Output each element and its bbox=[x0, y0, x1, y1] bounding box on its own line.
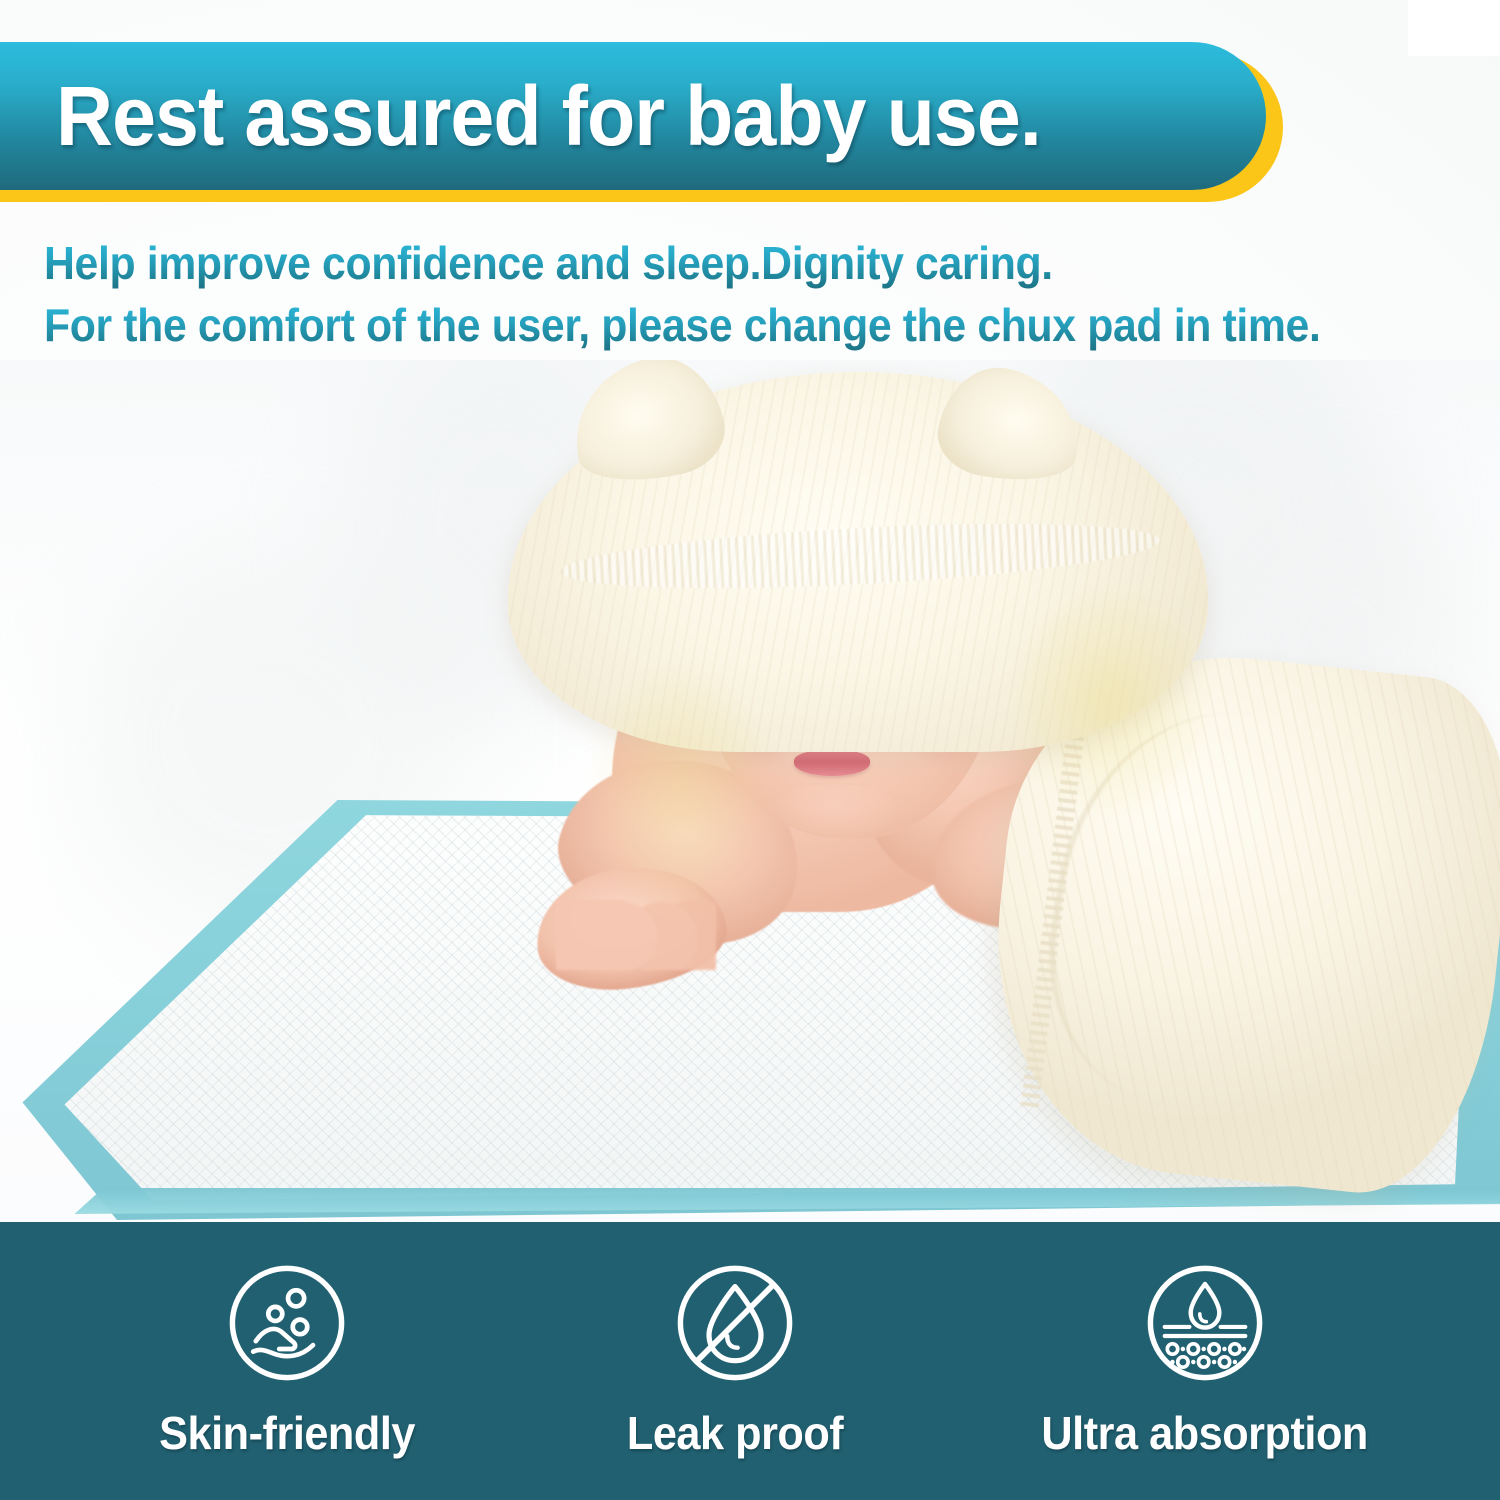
no-water-droplet-icon bbox=[670, 1258, 800, 1388]
background-white-notch bbox=[1408, 0, 1500, 56]
feature-bar: Skin-friendly Leak proof bbox=[0, 1222, 1500, 1500]
feature-item-leak-proof: Leak proof bbox=[585, 1258, 885, 1456]
feature-label-ultra-absorption: Ultra absorption bbox=[1042, 1410, 1368, 1456]
feature-label-leak-proof: Leak proof bbox=[627, 1410, 843, 1456]
subtitle-block: Help improve confidence and sleep.Dignit… bbox=[44, 232, 1474, 356]
banner-pill: Rest assured for baby use. bbox=[0, 42, 1266, 190]
feature-item-skin-friendly: Skin-friendly bbox=[137, 1258, 437, 1456]
feature-list: Skin-friendly Leak proof bbox=[0, 1222, 1500, 1500]
baby-mouth bbox=[794, 750, 870, 776]
page-title: Rest assured for baby use. bbox=[56, 74, 1041, 158]
droplet-absorbing-layers-icon bbox=[1140, 1258, 1270, 1388]
hand-with-bubbles-icon bbox=[222, 1258, 352, 1388]
subtitle-line-1: Help improve confidence and sleep.Dignit… bbox=[44, 232, 1374, 294]
feature-label-skin-friendly: Skin-friendly bbox=[159, 1410, 415, 1456]
product-photo bbox=[0, 360, 1500, 1222]
towel-warm-light-right bbox=[980, 550, 1240, 850]
towel-warm-light-left bbox=[560, 620, 800, 960]
subtitle-line-2: For the comfort of the user, please chan… bbox=[44, 294, 1374, 356]
feature-item-ultra-absorption: Ultra absorption bbox=[1055, 1258, 1355, 1456]
header-banner: Rest assured for baby use. bbox=[0, 42, 1288, 202]
product-marketing-image: Rest assured for baby use. Help improve … bbox=[0, 0, 1500, 1500]
